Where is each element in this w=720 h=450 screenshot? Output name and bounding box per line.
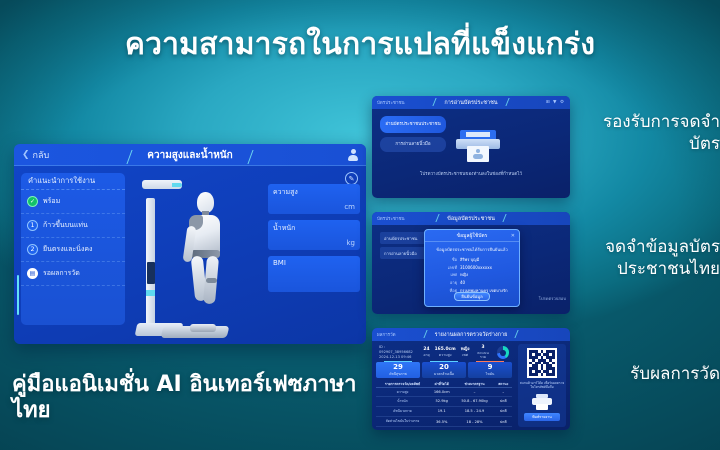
results-id-block: ID : 092907_38956682 2024-12-13 09:46 xyxy=(379,345,418,360)
card-reader-bar-title: การอ่านบัตรประชาชน xyxy=(434,99,507,107)
card-reader-bar-icons: ⊞ ▼ ⚙ xyxy=(546,100,565,105)
table-cell: ความสูง xyxy=(376,388,429,396)
results-bar-title: รายงานผลการตรวจวัดร่างกาย xyxy=(425,331,518,339)
metric-value: 20 xyxy=(439,364,449,371)
sidebar-step-ready[interactable]: ✓ พร้อม xyxy=(21,190,125,214)
id-form-note: โปรดตรวจสอบ xyxy=(539,295,566,302)
table-cell: 13.7kg xyxy=(429,427,454,430)
sidebar-scroll-indicator xyxy=(17,275,19,315)
results-right-column: สแกนคิวอาร์โค้ด เพื่อรับผลตรวจในโทรศัพท์… xyxy=(518,344,566,427)
instruction-sidebar: คำแนะนำการใช้งาน ✓ พร้อม 1 ก้าวขึ้นบนแท่… xyxy=(21,173,125,325)
metric-label: ไขมัน xyxy=(486,372,495,377)
sidebar-step-result[interactable]: ▤ รอผลการวัด xyxy=(21,262,125,286)
measurement-value-cards: ✎ ความสูง cm น้ำหนัก kg BMI xyxy=(268,184,360,298)
results-col-label: อายุ xyxy=(423,353,429,357)
value-card-label: BMI xyxy=(273,259,286,267)
panel-id-form: บัตรประชาชน ข้อมูลบัตรประชาชน อ่านบัตรปร… xyxy=(372,212,570,314)
value-card-unit: kg xyxy=(347,239,356,247)
user-avatar-icon[interactable] xyxy=(348,149,358,161)
table-cell: – xyxy=(495,388,512,396)
modal-field-list: ชื่อ สิริพร บุญมี เลขที่ 3100600xxxxxx เ… xyxy=(425,257,519,293)
caption-card-recognition: รองรับการจดจำบัตร xyxy=(582,112,720,156)
table-header-cell: สถานะ xyxy=(495,380,512,388)
metric-label: มวลกล้ามเนื้อ xyxy=(434,372,454,377)
main-device-panel: ❮ กลับ ความสูงและน้ำหนัก คำแนะนำการใช้งา… xyxy=(14,144,366,344)
results-col-label: ความสูง xyxy=(439,353,452,357)
main-panel-title-text: ความสูงและน้ำหนัก xyxy=(131,148,248,163)
metric-card-muscle[interactable]: 20 มวลกล้ามเนื้อ xyxy=(422,362,466,378)
metric-value: 9 xyxy=(488,364,493,371)
table-row: ดัชนีมวลกาย 19.1 18.5 - 24.9 ปกติ xyxy=(376,406,512,416)
table-cell: ปกติ xyxy=(495,416,512,426)
table-row: ความสูง 166.0cm – – xyxy=(376,388,512,396)
modal-field-name: ชื่อ สิริพร บุญมี xyxy=(431,257,513,262)
table-cell: ปกติ xyxy=(495,427,512,430)
field-label: อายุ xyxy=(431,280,457,285)
table-cell: 36.5% xyxy=(429,416,454,426)
value-card-label: น้ำหนัก xyxy=(273,223,295,234)
table-cell: 52.9kg xyxy=(429,396,454,406)
height-column-sensor xyxy=(172,183,182,187)
print-report-button[interactable]: พิมพ์รายงาน xyxy=(524,413,560,421)
printer-icon xyxy=(532,394,552,410)
field-value: สิริพร บุญมี xyxy=(460,257,479,262)
page-title: ความสามารถในการแปลที่แข็งแกร่ง xyxy=(0,26,720,64)
field-label: เลขที่ xyxy=(431,265,457,270)
table-header-row: รายการตรวจวัด/ผลลัพธ์ ค่าที่วัดได้ ช่วงม… xyxy=(376,380,512,388)
menu-item-read-fingerprint[interactable]: การอ่านลายนิ้วมือ xyxy=(380,137,446,152)
table-cell: 19.1 xyxy=(429,406,454,416)
metric-label: ดัชนีสุขภาพ xyxy=(389,372,407,377)
card-reader-titlebar: บัตรประชาชน การอ่านบัตรประชาชน ⊞ ▼ ⚙ xyxy=(372,96,570,109)
results-metric-cards: 29 ดัชนีสุขภาพ 20 มวลกล้ามเนื้อ 9 ไขมัน xyxy=(376,362,512,378)
qr-instruction: สแกนคิวอาร์โค้ด เพื่อรับผลตรวจในโทรศัพท์… xyxy=(518,381,566,390)
document-icon: ▤ xyxy=(27,268,38,279)
panel-card-reader: บัตรประชาชน การอ่านบัตรประชาชน ⊞ ▼ ⚙ อ่า… xyxy=(372,96,570,198)
qr-code-icon xyxy=(527,348,557,378)
table-row: น้ำหนัก 52.9kg 50.8 - 67.90kg ปกติ xyxy=(376,396,512,406)
modal-subtitle: ข้อมูลบัตรประชาชนได้รับการยืนยันแล้ว xyxy=(425,246,519,253)
table-cell: – xyxy=(454,388,494,396)
value-card-height[interactable]: ความสูง cm xyxy=(268,184,360,214)
field-label: ที่อยู่ xyxy=(431,288,457,293)
results-titlebar: ผลการวัด รายงานผลการตรวจวัดร่างกาย xyxy=(372,328,570,341)
sidebar-step-label: ยืนตรงและนิ่งคง xyxy=(43,244,92,255)
modal-field-gender: เพศ หญิง xyxy=(431,272,513,277)
step-number-icon: 2 xyxy=(27,244,38,255)
card-reader-instruction: โปรดวางบัตรประชาชนของท่านลงในช่องที่กำหน… xyxy=(372,172,570,179)
height-column-display xyxy=(147,262,155,284)
sidebar-step-label: ก้าวขึ้นบนแท่น xyxy=(43,220,88,231)
card-reader-printer-icon xyxy=(456,130,500,164)
results-left-column: ID : 092907_38956682 2024-12-13 09:46 24… xyxy=(376,344,512,427)
table-cell: 18.5 - 24.9 xyxy=(454,406,494,416)
card-reader-menu: อ่านบัตรประชาชนประชาชน การอ่านลายนิ้วมือ xyxy=(380,116,446,156)
metric-card-health-index[interactable]: 29 ดัชนีสุขภาพ xyxy=(376,362,420,378)
caption-main: คู่มือแอนิเมชั่น AI อินเทอร์เฟซภาษาไทย xyxy=(12,372,372,425)
sidebar-step-2[interactable]: 2 ยืนตรงและนิ่งคง xyxy=(21,238,125,262)
field-value: 40 xyxy=(460,280,465,285)
results-col-gender: หญิง เพศ xyxy=(461,347,470,357)
results-bar-left: ผลการวัด xyxy=(377,331,396,338)
table-cell: 50.8 - 67.90kg xyxy=(454,396,494,406)
id-form-titlebar: บัตรประชาชน ข้อมูลบัตรประชาชน xyxy=(372,212,570,225)
confirm-button[interactable]: ยืนยันข้อมูล xyxy=(454,292,490,301)
donut-chart-icon xyxy=(497,346,509,359)
figure-head xyxy=(197,192,214,213)
value-card-bmi[interactable]: BMI xyxy=(268,256,360,292)
field-value: 3100600xxxxxx xyxy=(460,265,492,270)
table-cell: 166.0cm xyxy=(429,388,454,396)
results-body: ID : 092907_38956682 2024-12-13 09:46 24… xyxy=(376,344,566,427)
metric-value: 29 xyxy=(393,364,403,371)
results-col-age: 24 อายุ xyxy=(423,347,429,357)
field-label: ชื่อ xyxy=(431,257,457,262)
caption-thai-id-data: จดจำข้อมูลบัตรประชาชนไทย xyxy=(568,237,720,281)
check-circle-icon: ✓ xyxy=(27,196,38,207)
field-value: หญิง xyxy=(460,272,468,277)
height-column-band xyxy=(146,290,155,296)
results-col-height: 165.0cm ความสูง xyxy=(435,347,456,357)
results-col-label: เพศ xyxy=(462,353,468,357)
value-card-weight[interactable]: น้ำหนัก kg xyxy=(268,220,360,250)
sidebar-step-1[interactable]: 1 ก้าวขึ้นบนแท่น xyxy=(21,214,125,238)
table-row: สัดส่วนไขมันในร่างกาย 36.5% 18 - 28% ปกต… xyxy=(376,416,512,426)
table-cell: 11.4 - 18.9kg xyxy=(454,427,494,430)
results-id-line-2: 2024-12-13 09:46 xyxy=(379,355,418,360)
table-row: ปริมาณไขมัน 13.7kg 11.4 - 18.9kg ปกติ xyxy=(376,427,512,430)
modal-field-id-number: เลขที่ 3100600xxxxxx xyxy=(431,265,513,270)
table-header-cell: ช่วงมาตรฐาน xyxy=(454,380,494,388)
sidebar-step-label: พร้อม xyxy=(43,196,60,207)
id-form-bar-title: ข้อมูลบัตรประชาชน xyxy=(437,215,505,223)
instruction-sidebar-header: คำแนะนำการใช้งาน xyxy=(21,173,125,190)
table-header-cell: ค่าที่วัดได้ xyxy=(429,380,454,388)
results-score-label: คะแนนรวม xyxy=(477,351,489,360)
table-cell: 18 - 28% xyxy=(454,416,494,426)
table-cell: ปกติ xyxy=(495,396,512,406)
id-info-modal: ข้อมูลผู้ใช้บัตร ✕ ข้อมูลบัตรประชาชนได้ร… xyxy=(424,229,520,307)
menu-item-read-id-card[interactable]: อ่านบัตรประชาชนประชาชน xyxy=(380,116,446,133)
table-cell: ดัชนีมวลกาย xyxy=(376,406,429,416)
panel-results: ผลการวัด รายงานผลการตรวจวัดร่างกาย ID : … xyxy=(372,328,570,430)
table-cell: สัดส่วนไขมันในร่างกาย xyxy=(376,416,429,426)
figure-knee xyxy=(206,278,217,283)
field-label: เพศ xyxy=(431,272,457,277)
results-table: รายการตรวจวัด/ผลลัพธ์ ค่าที่วัดได้ ช่วงม… xyxy=(376,380,512,430)
table-cell: น้ำหนัก xyxy=(376,396,429,406)
results-id-header: ID : 092907_38956682 2024-12-13 09:46 24… xyxy=(376,344,512,361)
modal-field-age: อายุ 40 xyxy=(431,280,513,285)
close-x-icon[interactable]: ✕ xyxy=(511,233,515,239)
table-cell: ปกติ xyxy=(495,406,512,416)
metric-card-fat[interactable]: 9 ไขมัน xyxy=(468,362,512,378)
id-form-bar-left: บัตรประชาชน xyxy=(377,215,405,222)
figure-foot xyxy=(190,324,216,332)
table-cell: ปริมาณไขมัน xyxy=(376,427,429,430)
table-header-cell: รายการตรวจวัด/ผลลัพธ์ xyxy=(376,380,429,388)
human-figure-3d xyxy=(176,190,236,330)
value-card-label: ความสูง xyxy=(273,187,298,198)
value-card-unit: cm xyxy=(344,203,355,211)
sidebar-step-label: รอผลการวัด xyxy=(43,268,80,279)
caption-get-results: รับผลการวัด xyxy=(582,364,720,386)
step-number-icon: 1 xyxy=(27,220,38,231)
card-reader-bar-left: บัตรประชาชน xyxy=(377,99,405,106)
measurement-stage xyxy=(132,174,262,336)
modal-title: ข้อมูลผู้ใช้บัตร xyxy=(425,230,519,242)
main-panel-title: ความสูงและน้ำหนัก xyxy=(14,144,366,166)
results-score: 3 คะแนนรวม xyxy=(474,345,491,360)
results-id-line-1: ID : 092907_38956682 xyxy=(379,345,418,355)
